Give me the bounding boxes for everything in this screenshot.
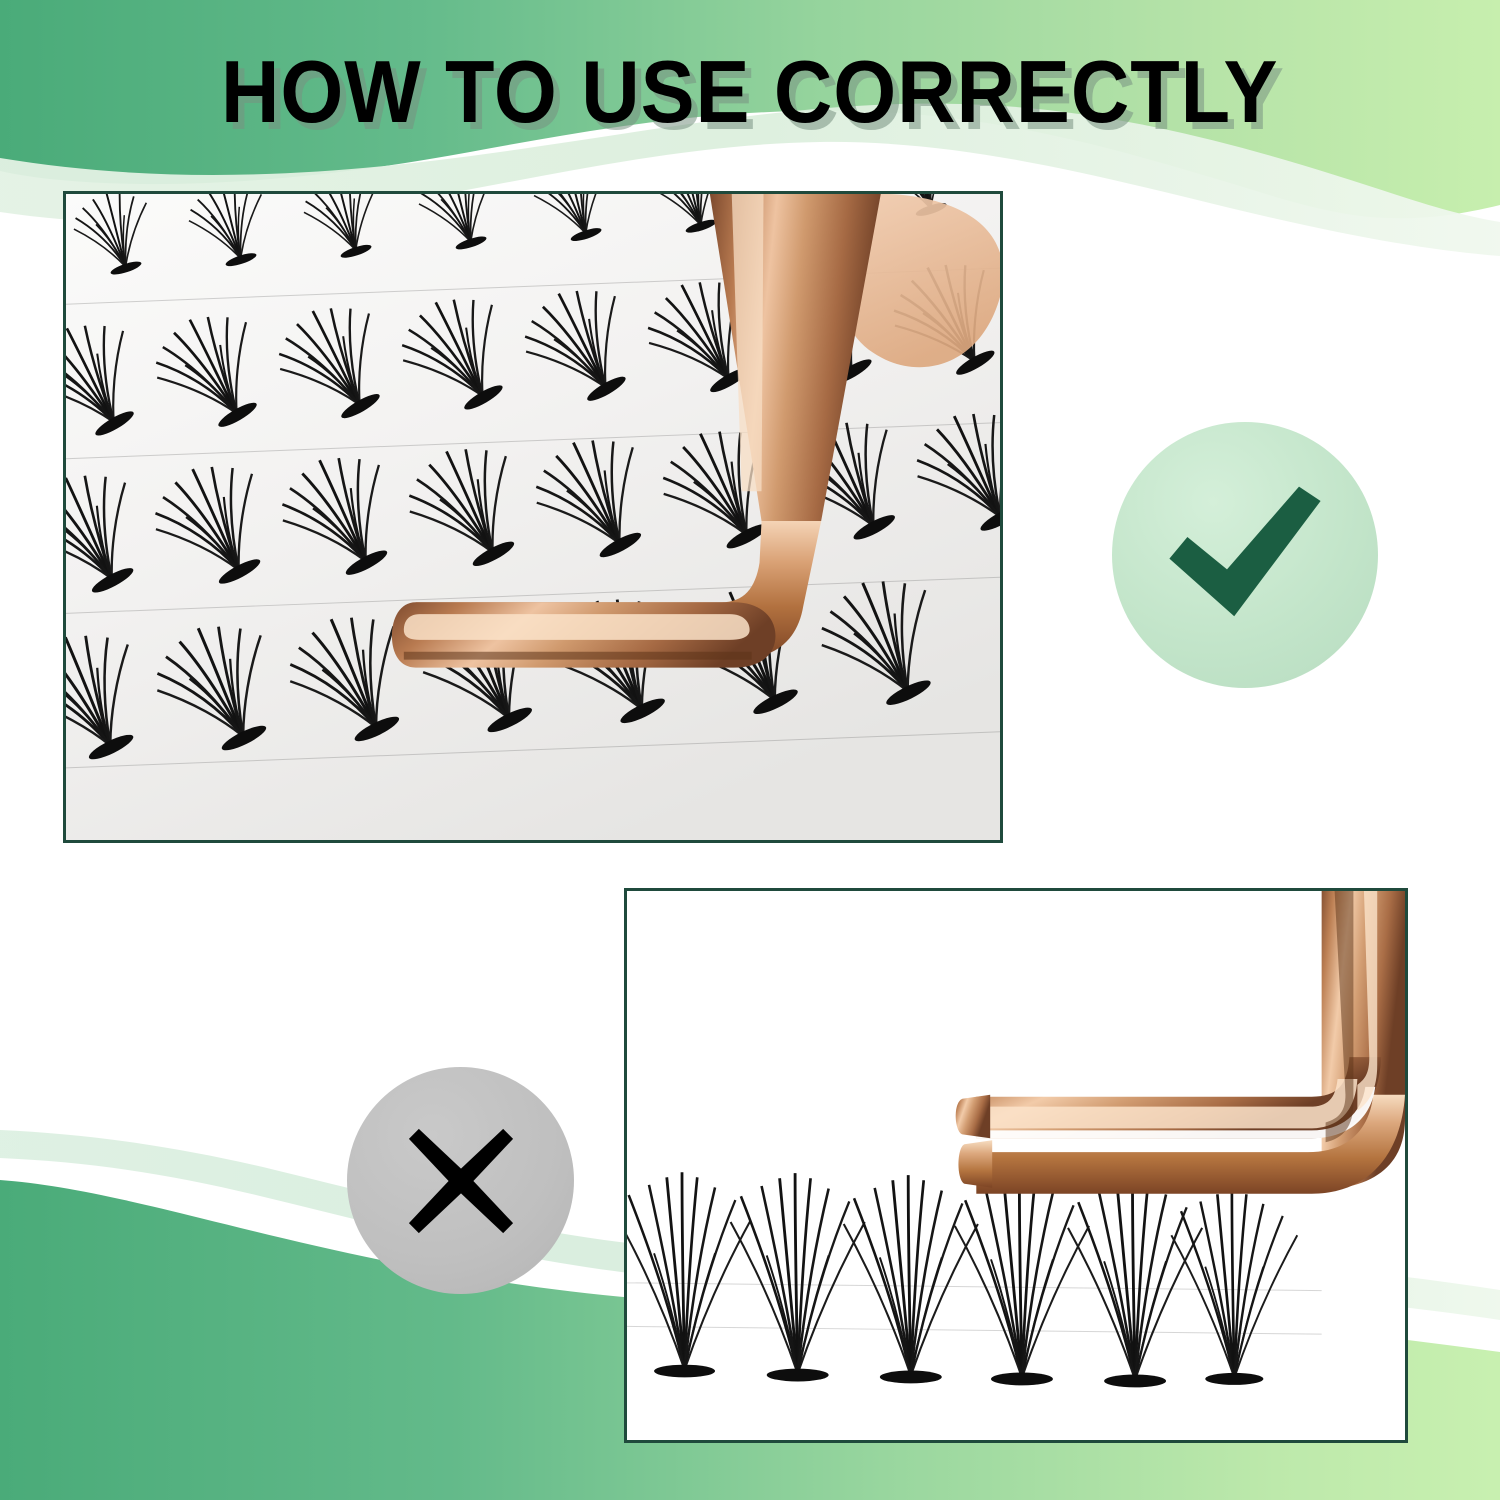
lash-row-illustration: [627, 891, 1405, 1440]
status-badge-incorrect: [347, 1067, 574, 1294]
page-title-wrap: HOW TO USE CORRECTLY: [0, 48, 1500, 136]
lash-tray-illustration: [66, 194, 1000, 840]
correct-usage-photo-panel: [63, 191, 1003, 843]
incorrect-usage-photo-panel: [624, 888, 1408, 1443]
check-icon: [1155, 465, 1335, 645]
infographic-page: HOW TO USE CORRECTLY: [0, 0, 1500, 1500]
page-title: HOW TO USE CORRECTLY: [221, 48, 1278, 136]
correct-usage-photo-image: [66, 194, 1000, 840]
status-badge-correct: [1112, 422, 1378, 688]
cross-icon: [399, 1119, 523, 1243]
incorrect-usage-photo-image: [627, 891, 1405, 1440]
